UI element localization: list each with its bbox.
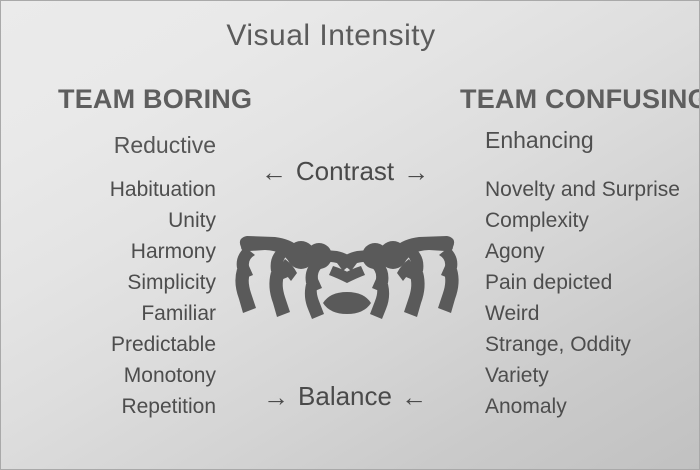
- arrow-left-icon: ←: [401, 382, 427, 412]
- contrast-label-text: Contrast: [287, 156, 403, 186]
- list-item: Agony: [485, 236, 680, 267]
- list-item: Familiar: [1, 298, 216, 329]
- arrow-right-icon: →: [403, 157, 429, 187]
- balance-label-text: Balance: [289, 381, 401, 411]
- list-item: Monotony: [1, 360, 216, 391]
- balance-axis-label: →Balance←: [225, 381, 465, 413]
- list-item: Novelty and Surprise: [485, 174, 680, 205]
- list-item: Enhancing: [485, 125, 680, 155]
- list-item: Harmony: [1, 236, 216, 267]
- list-item: Strange, Oddity: [485, 329, 680, 360]
- list-item: Complexity: [485, 205, 680, 236]
- list-item: Pain depicted: [485, 267, 680, 298]
- contrast-axis-label: ←Contrast→: [225, 156, 465, 188]
- team-boring-list: Reductive Habituation Unity Harmony Simp…: [1, 130, 216, 422]
- list-item: Unity: [1, 205, 216, 236]
- football-scrimmage-illustration: [233, 225, 461, 329]
- football-scrimmage-graphic: [233, 225, 461, 329]
- list-item: Weird: [485, 298, 680, 329]
- list-item: Predictable: [1, 329, 216, 360]
- list-spacer: [485, 155, 680, 174]
- list-item: Habituation: [1, 174, 216, 205]
- list-item: Anomaly: [485, 391, 680, 422]
- list-item: Reductive: [1, 130, 216, 160]
- team-confusing-header: TEAM CONFUSING: [460, 84, 700, 115]
- arrow-right-icon: →: [263, 382, 289, 412]
- arrow-left-icon: ←: [261, 157, 287, 187]
- list-item: Simplicity: [1, 267, 216, 298]
- page-title: Visual Intensity: [1, 19, 661, 53]
- team-boring-header: TEAM BORING: [58, 84, 252, 115]
- football-icon: [323, 292, 371, 314]
- team-confusing-list: Enhancing Novelty and Surprise Complexit…: [485, 125, 680, 422]
- list-item: Variety: [485, 360, 680, 391]
- list-item: Repetition: [1, 391, 216, 422]
- slide-canvas: Visual Intensity TEAM BORING TEAM CONFUS…: [0, 0, 700, 470]
- list-spacer: [1, 160, 216, 174]
